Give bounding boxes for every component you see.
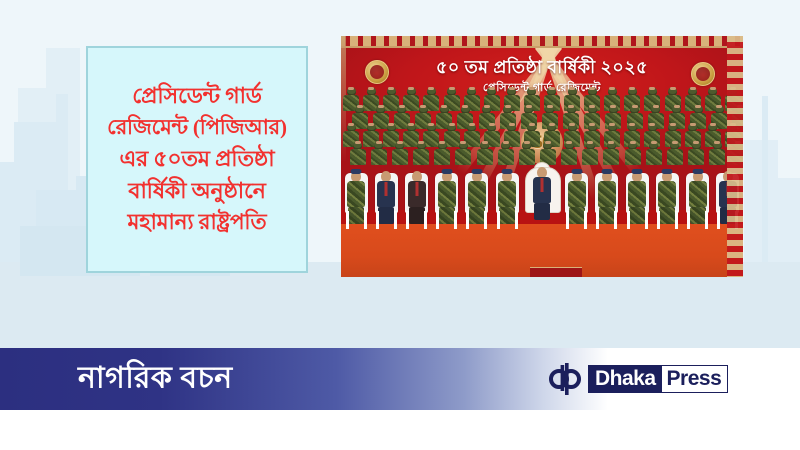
event-photo: ৫০ তম প্রতিষ্ঠা বার্ষিকী ২০২৫ প্রেসিডেন্… [341,36,743,277]
president-seat [525,167,559,229]
logo-word-press: Press [661,366,728,392]
floor-carpet [530,267,582,277]
brand-name-bangla: নাগরিক বচন [78,354,233,405]
headline-line-5: মহামান্য রাষ্ট্রপতি [93,207,301,238]
screenshot-root: প্রেসিডেন্ট গার্ড রেজিমেন্ট (পিজিআর) এর … [0,0,800,450]
logo-wordmark: Dhaka Press [588,365,728,393]
headline-line-1: প্রেসিডেন্ট গার্ড [93,80,301,112]
stage-floor [341,224,743,277]
headline-line-2: রেজিমেন্ট (পিজিআর) [93,112,301,143]
right-trim [727,36,743,277]
headline-line-4: বার্ষিকী অনুষ্ঠানে [93,175,301,207]
dhaka-press-logo[interactable]: Dhaka Press [546,362,728,396]
valance-trim [341,36,743,48]
dp-monogram-icon [546,362,584,396]
logo-word-dhaka: Dhaka [589,366,661,392]
front-row-dignitaries [341,165,743,229]
bottom-brand-bar: নাগরিক বচন Dhaka Press [0,348,800,410]
photo-inner: ৫০ তম প্রতিষ্ঠা বার্ষিকী ২০২৫ প্রেসিডেন্… [341,36,743,277]
headline-line-3: এর ৫০তম প্রতিষ্ঠা [93,143,301,175]
headline-card: প্রেসিডেন্ট গার্ড রেজিমেন্ট (পিজিআর) এর … [86,46,308,273]
footer-whitespace [0,410,800,450]
